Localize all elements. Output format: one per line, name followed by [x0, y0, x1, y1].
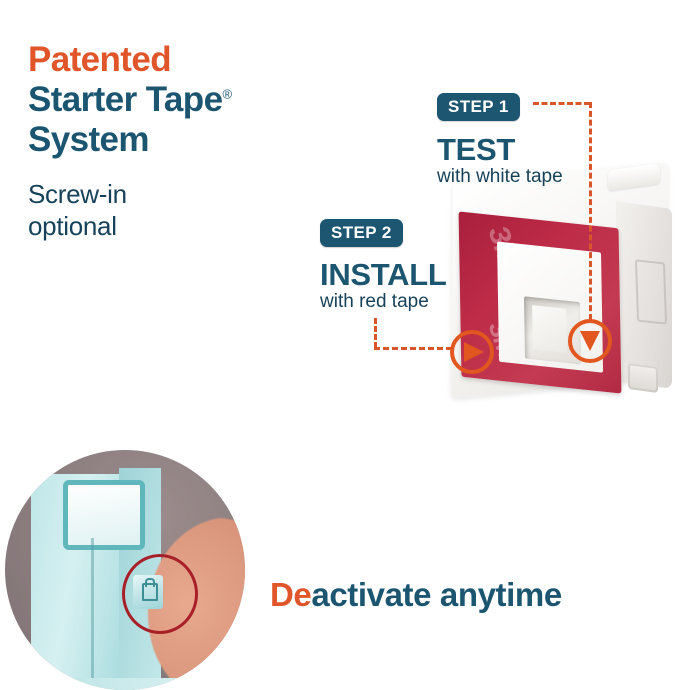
- headline-block: Patented Starter Tape® System Screw-in o…: [28, 40, 308, 242]
- step1-connector-vertical: [589, 102, 592, 320]
- step1-connector-horizontal: [533, 102, 590, 105]
- right-arrow-circle-icon: [450, 330, 494, 374]
- down-arrow-glyph: [580, 331, 600, 351]
- product-photo: 3M 3M: [440, 165, 679, 420]
- step2-connector-horizontal: [374, 347, 452, 350]
- headline-line-system: System: [28, 120, 308, 160]
- photo-device-seam: [91, 538, 94, 690]
- product-jack-port-inner: [532, 305, 567, 353]
- subheadline-line2: optional: [28, 210, 308, 242]
- step-1-badge: STEP 1: [437, 93, 520, 121]
- step-2-caption: with red tape: [320, 292, 429, 311]
- subheadline: Screw-in optional: [28, 178, 308, 242]
- red-circle-highlight: [122, 554, 198, 634]
- deactivate-photo: [5, 450, 245, 690]
- deactivate-headline: Deactivate anytime: [270, 578, 562, 611]
- photo-device-base: [15, 678, 205, 690]
- infographic-canvas: Patented Starter Tape® System Screw-in o…: [0, 0, 679, 666]
- headline-line-starter-tape: Starter Tape®: [28, 80, 308, 120]
- headline-line-patented: Patented: [28, 40, 308, 80]
- right-arrow-glyph: [464, 342, 484, 362]
- subheadline-line1: Screw-in: [28, 178, 308, 210]
- step2-connector-vertical: [374, 318, 377, 348]
- registered-trademark-symbol: ®: [222, 86, 231, 101]
- step-1-title: TEST: [437, 134, 515, 165]
- down-arrow-circle-icon: [568, 319, 612, 363]
- step-2-badge: STEP 2: [320, 219, 403, 247]
- step-1-caption: with white tape: [437, 167, 563, 186]
- headline-starter-tape-text: Starter Tape: [28, 80, 222, 119]
- product-bottom-tab: [628, 363, 658, 393]
- photo-device-clip: [63, 480, 145, 550]
- product-embossed-mark: [635, 259, 667, 324]
- deactivate-prefix: De: [270, 576, 311, 613]
- step-2-title: INSTALL: [320, 259, 446, 290]
- deactivate-rest: activate anytime: [311, 576, 561, 613]
